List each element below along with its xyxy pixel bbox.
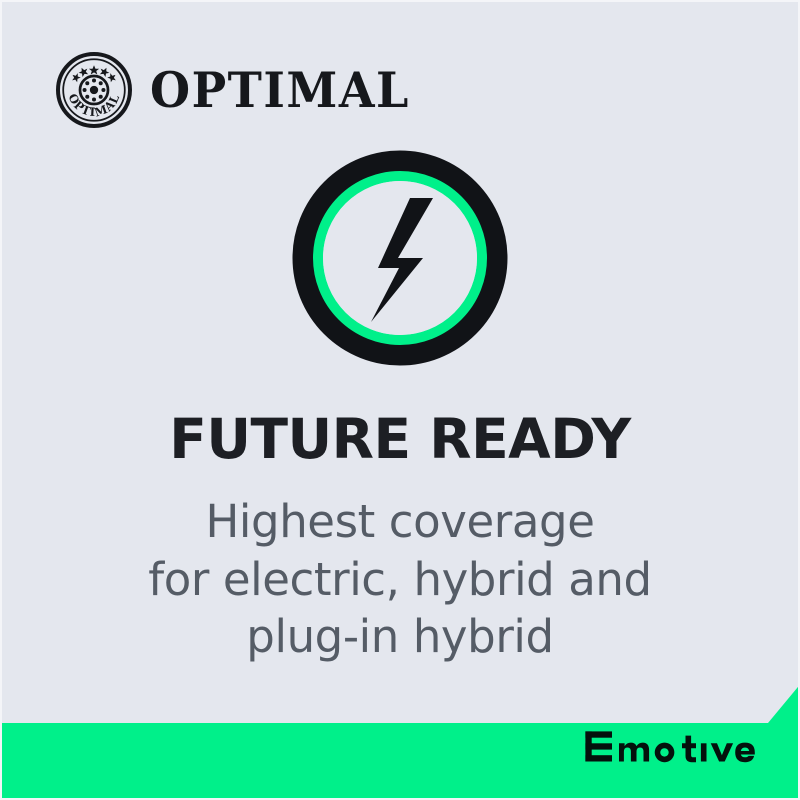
subcopy-line: Highest coverage — [42, 493, 758, 551]
subcopy: Highest coverage for electric, hybrid an… — [42, 493, 758, 666]
page-title: FUTURE READY — [42, 412, 758, 467]
copy-block: FUTURE READY Highest coverage for electr… — [2, 412, 798, 666]
lightning-bolt-in-ring-icon — [292, 150, 508, 366]
optimal-bearing-badge-icon: OPTIMAL — [54, 50, 134, 130]
ad-card: OPTIMAL OPTIMAL — [0, 0, 800, 800]
subcopy-line: plug-in hybrid — [42, 608, 758, 666]
svg-text:OPTIMAL: OPTIMAL — [65, 91, 122, 119]
brand-wordmark: OPTIMAL — [150, 66, 410, 115]
brand-header: OPTIMAL OPTIMAL — [54, 50, 410, 130]
emblem-container — [2, 150, 798, 366]
subcopy-line: for electric, hybrid and — [42, 551, 758, 609]
footer-banner — [2, 682, 800, 798]
badge-inner-text: OPTIMAL — [65, 91, 122, 119]
emotive-wordmark-logo — [584, 730, 766, 772]
